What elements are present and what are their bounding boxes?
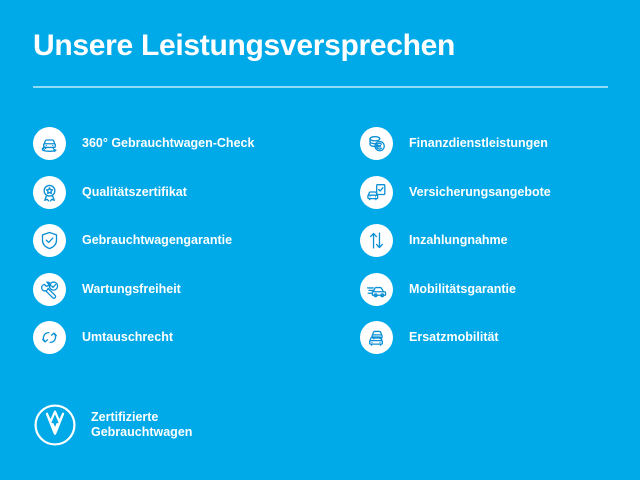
feature-item: Umtauschrecht [33, 321, 333, 370]
footer-line-1: Zertifizierte [91, 410, 192, 425]
coins-euro-icon [360, 127, 393, 160]
feature-label: Versicherungsangebote [409, 183, 551, 201]
features-left-column: 360° Gebrauchtwagen-Check Qualitätszerti… [33, 127, 333, 370]
feature-label: Mobilitätsgarantie [409, 280, 516, 298]
page-title: Unsere Leistungsversprechen [33, 28, 608, 64]
feature-label: Gebrauchtwagengarantie [82, 231, 232, 249]
car-document-check-icon [360, 176, 393, 209]
feature-item: 360° Gebrauchtwagen-Check [33, 127, 333, 176]
shield-check-icon [33, 224, 66, 257]
footer-line-2: Gebrauchtwagen [91, 425, 192, 440]
feature-label: Inzahlungnahme [409, 231, 508, 249]
features-right-column: Finanzdienstleistungen Versicheru [360, 127, 640, 370]
wrench-check-icon [33, 273, 66, 306]
footer-branding: Zertifizierte Gebrauchtwagen [33, 403, 192, 447]
arrows-up-down-icon [360, 224, 393, 257]
feature-item: Qualitätszertifikat [33, 176, 333, 225]
exchange-arrows-icon [33, 321, 66, 354]
feature-item: Versicherungsangebote [360, 176, 640, 225]
feature-item: Inzahlungnahme [360, 224, 640, 273]
volkswagen-logo [33, 403, 77, 447]
header: Unsere Leistungsversprechen [33, 28, 608, 64]
feature-label: Finanzdienstleistungen [409, 134, 548, 152]
feature-item: Wartungsfreiheit [33, 273, 333, 322]
feature-item: Mobilitätsgarantie [360, 273, 640, 322]
header-divider [33, 86, 608, 88]
feature-label: Umtauschrecht [82, 328, 173, 346]
feature-item: Gebrauchtwagengarantie [33, 224, 333, 273]
two-cars-icon [360, 321, 393, 354]
car-360-check-icon [33, 127, 66, 160]
footer-text: Zertifizierte Gebrauchtwagen [91, 410, 192, 440]
feature-item: Ersatzmobilität [360, 321, 640, 370]
feature-item: Finanzdienstleistungen [360, 127, 640, 176]
feature-label: Qualitätszertifikat [82, 183, 187, 201]
car-motion-icon [360, 273, 393, 306]
feature-label: Wartungsfreiheit [82, 280, 181, 298]
award-medal-icon [33, 176, 66, 209]
feature-label: 360° Gebrauchtwagen-Check [82, 134, 254, 152]
vw-service-promises-poster: Unsere Leistungsversprechen [0, 0, 640, 480]
feature-label: Ersatzmobilität [409, 328, 499, 346]
